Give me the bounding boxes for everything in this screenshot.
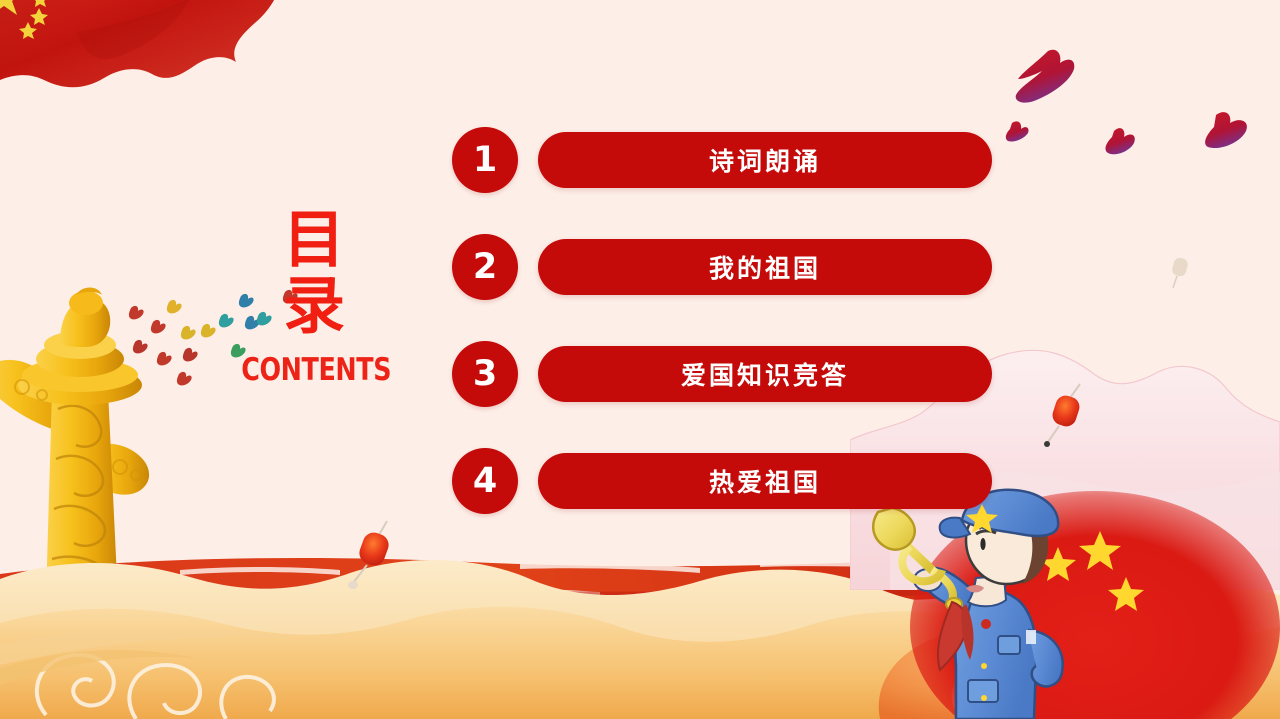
toc-item-label[interactable]: 我的祖国 [538,239,992,295]
slide-content: 目 录 CONTENTS 1 诗词朗诵 2 我的祖国 3 爱国知识竞答 4 热爱… [0,0,1280,719]
toc-number-badge: 3 [452,341,518,407]
page-title-cn-line2: 录 [225,274,405,338]
presentation-slide: 目 录 CONTENTS 1 诗词朗诵 2 我的祖国 3 爱国知识竞答 4 热爱… [0,0,1280,719]
toc-item-label[interactable]: 热爱祖国 [538,453,992,509]
toc-item-label[interactable]: 诗词朗诵 [538,132,992,188]
toc-number-badge: 2 [452,234,518,300]
toc-number-badge: 1 [452,127,518,193]
list-item[interactable]: 1 诗词朗诵 [452,127,992,193]
toc-item-label[interactable]: 爱国知识竞答 [538,346,992,402]
page-title-cn-line1: 目 [225,208,405,272]
table-of-contents-list: 1 诗词朗诵 2 我的祖国 3 爱国知识竞答 4 热爱祖国 [452,127,992,514]
list-item[interactable]: 2 我的祖国 [452,234,992,300]
page-title: 目 录 CONTENTS [225,208,405,388]
toc-number-badge: 4 [452,448,518,514]
list-item[interactable]: 3 爱国知识竞答 [452,341,992,407]
list-item[interactable]: 4 热爱祖国 [452,448,992,514]
page-title-en: CONTENTS [241,352,389,388]
